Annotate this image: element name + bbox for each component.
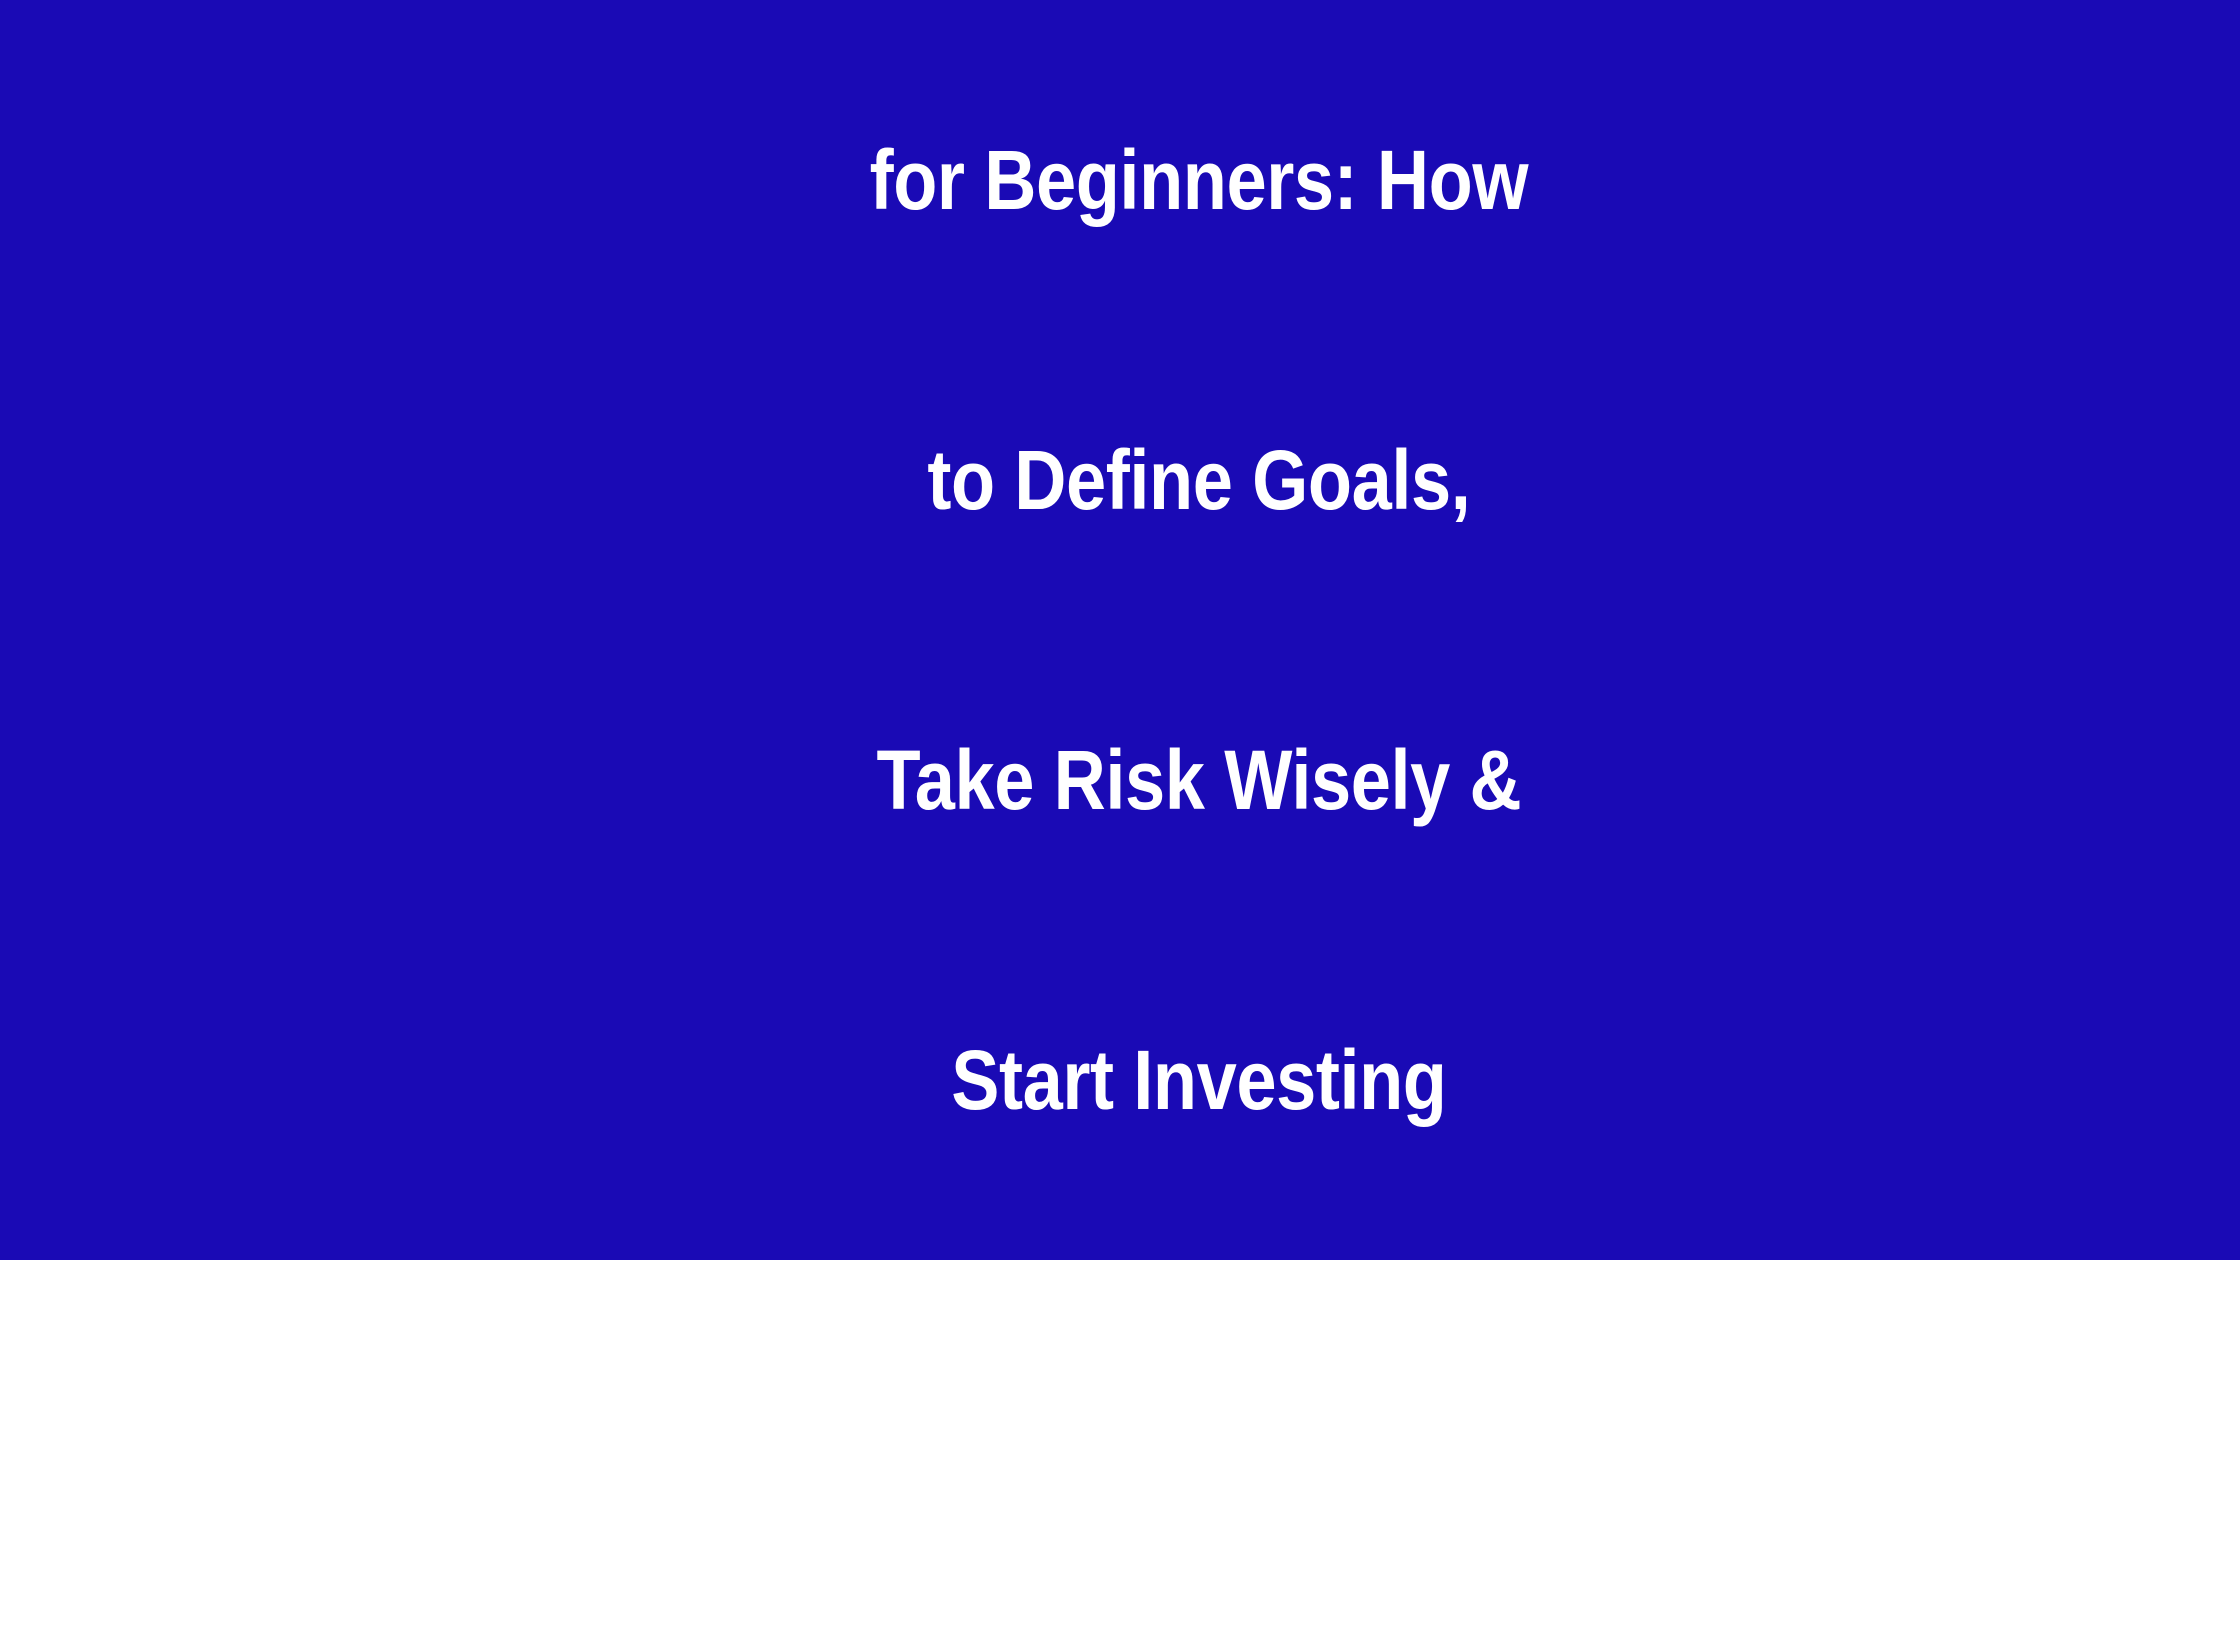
title-line-5: Start Investing bbox=[870, 1030, 1529, 1130]
title-card-slide: Wealth Creation for Beginners: How to De… bbox=[0, 0, 2240, 1260]
title-line-6: with Confidence bbox=[870, 1330, 1529, 1430]
title-line-3: to Define Goals, bbox=[870, 430, 1529, 530]
title-text-block: Wealth Creation for Beginners: How to De… bbox=[0, 0, 2240, 1260]
title-line-4: Take Risk Wisely & bbox=[870, 730, 1529, 830]
title-line-2: for Beginners: How bbox=[870, 130, 1529, 230]
page-title: Wealth Creation for Beginners: How to De… bbox=[870, 0, 1529, 1630]
